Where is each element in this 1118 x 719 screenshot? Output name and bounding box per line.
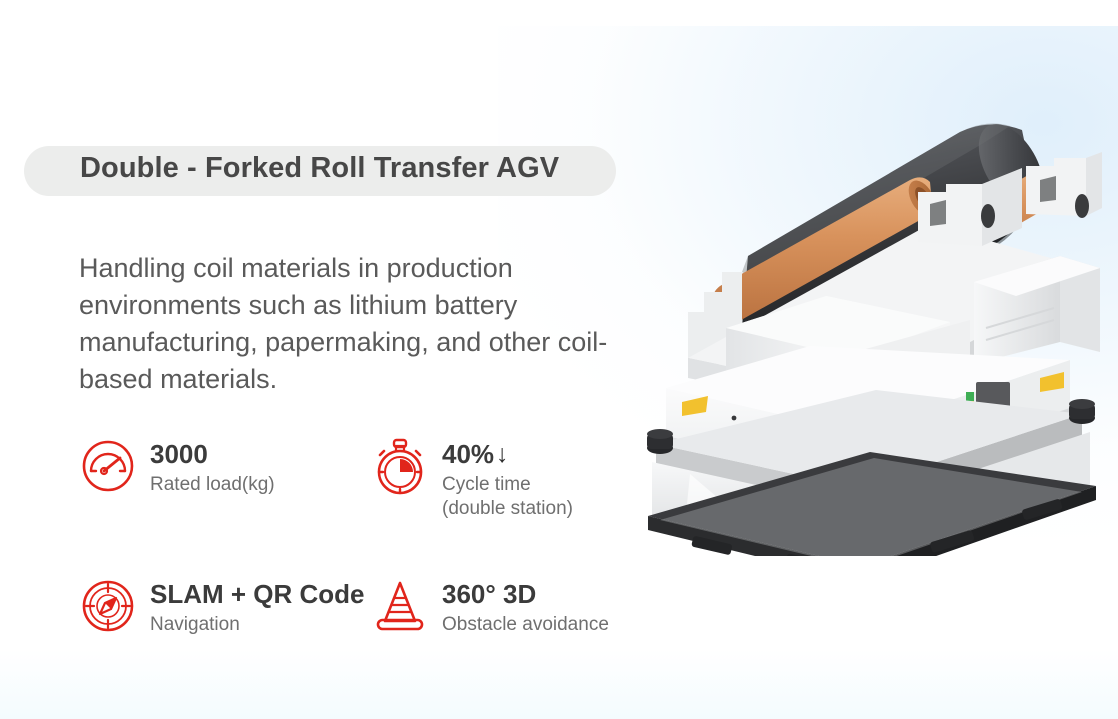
spec-text: 40% ↓ Cycle time (double station)	[430, 436, 573, 521]
spec-item-navigation: SLAM + QR Code Navigation	[78, 576, 370, 642]
spec-label: Obstacle avoidance	[442, 613, 609, 637]
compass-icon	[78, 576, 138, 642]
spec-value-number: 360° 3D	[442, 580, 536, 608]
spec-text: 360° 3D Obstacle avoidance	[430, 576, 609, 637]
lidar-sensor-right	[1069, 399, 1095, 424]
roller-pin-right	[1075, 194, 1089, 218]
traffic-cone-icon	[370, 576, 430, 642]
spec-label: Cycle time	[442, 473, 573, 497]
spec-value-number: 3000	[150, 440, 208, 468]
spec-row: 3000 Rated load(kg)	[78, 436, 658, 521]
page-title: Double - Forked Roll Transfer AGV	[80, 152, 559, 185]
product-slide: LEAD 贝导 LOGISTICS	[0, 0, 1118, 719]
spec-value: SLAM + QR Code	[150, 580, 365, 608]
spec-list: 3000 Rated load(kg)	[78, 436, 658, 642]
spec-value-number: 40%	[442, 440, 494, 468]
spec-label: Navigation	[150, 613, 365, 637]
spec-value-number: SLAM + QR Code	[150, 580, 365, 608]
stopwatch-icon	[370, 436, 430, 502]
spec-item-cycle-time: 40% ↓ Cycle time (double station)	[370, 436, 658, 521]
spec-label: Rated load(kg)	[150, 473, 275, 497]
spec-text: SLAM + QR Code Navigation	[138, 576, 365, 637]
spec-value: 3000	[150, 440, 275, 468]
spec-value: 40% ↓	[442, 440, 573, 468]
spec-label-secondary: (double station)	[442, 497, 573, 521]
gauge-icon	[78, 436, 138, 502]
background-top-strip	[0, 0, 1118, 26]
spec-text: 3000 Rated load(kg)	[138, 436, 275, 497]
description-text: Handling coil materials in production en…	[79, 250, 649, 398]
roller-pin-left	[981, 204, 995, 228]
spec-row: SLAM + QR Code Navigation	[78, 576, 658, 642]
spec-item-rated-load: 3000 Rated load(kg)	[78, 436, 370, 502]
down-arrow-icon: ↓	[496, 442, 509, 467]
spec-item-obstacle-avoidance: 360° 3D Obstacle avoidance	[370, 576, 658, 642]
spec-value: 360° 3D	[442, 580, 609, 608]
product-image: LEAD 贝导 LOGISTICS	[630, 96, 1118, 556]
background-gradient-bottom	[0, 649, 1118, 719]
